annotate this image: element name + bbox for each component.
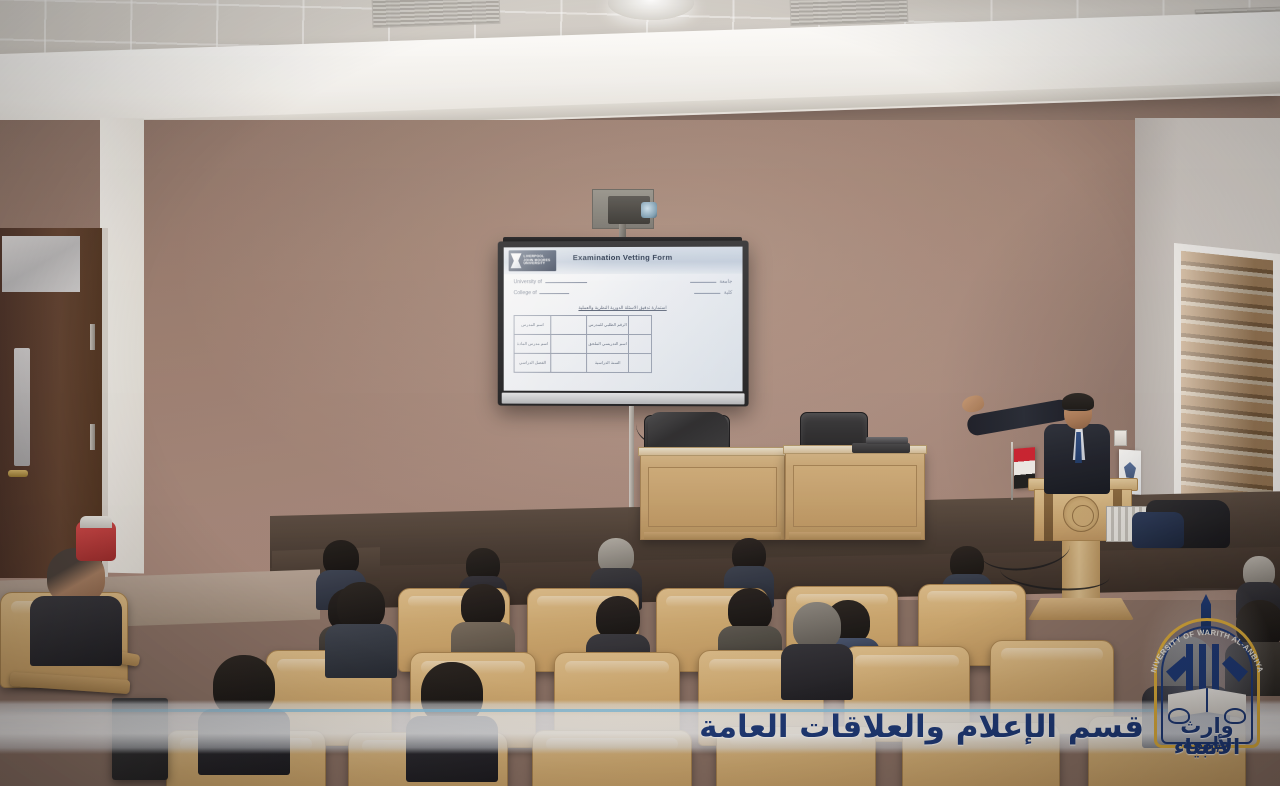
slide-table-row: اسم المدرس الرقم الطلبي للمدرس	[514, 315, 652, 334]
slide-cell	[551, 353, 587, 372]
slide-title: Examination Vetting Form	[504, 253, 743, 263]
audience-person	[786, 602, 848, 690]
logo-year: 2017	[1192, 743, 1226, 755]
flag-pole	[1011, 442, 1013, 500]
slide-cell: الرقم الطلبي للمدرس	[587, 315, 628, 334]
desk-front-panel	[648, 467, 777, 527]
projected-slide: LIVERPOOL JOHN MOORES UNIVERSITY Examina…	[504, 247, 743, 392]
stage-desk-left	[640, 452, 785, 540]
logo-arc-text: UNIVERSITY OF WARITH AL-ANBIYAA	[1143, 613, 1265, 674]
field-university-label-ar: جامعة	[719, 279, 732, 285]
door-vision-strip	[14, 348, 30, 466]
slide-cell	[628, 315, 652, 334]
person-head	[793, 602, 841, 650]
photo-scene: LIVERPOOL JOHN MOORES UNIVERSITY Examina…	[0, 0, 1280, 786]
door-glass-panel	[2, 236, 80, 292]
item-on-desk-2	[866, 437, 908, 444]
desk-front-panel	[793, 465, 917, 527]
person-body	[30, 596, 122, 666]
university-logo: UNIVERSITY OF WARITH AL-ANBIYAA وارث الأ…	[1146, 596, 1268, 764]
podium-base	[1028, 598, 1134, 620]
audience-person-profile	[38, 548, 114, 658]
whiteboard-stand-leg	[629, 406, 634, 514]
person-body	[781, 644, 853, 700]
media-department-banner: قسم الإعلام والعلاقات العامة	[0, 700, 1280, 754]
coat-on-chair	[648, 412, 728, 450]
slide-field-row-college: College of كلية	[514, 290, 733, 296]
field-rule-ar	[690, 281, 716, 282]
slide-cell: الفصل الدراسي	[514, 353, 551, 372]
interactive-whiteboard[interactable]: LIVERPOOL JOHN MOORES UNIVERSITY Examina…	[498, 241, 749, 407]
speaker-eyeglasses	[1063, 409, 1087, 414]
ac-vent-2	[790, 0, 909, 26]
logo-arc-text-wrap: UNIVERSITY OF WARITH AL-ANBIYAA	[1146, 620, 1268, 680]
slide-subheading: استمارة تدقيق الاسئلة الدورية النظرية وا…	[504, 305, 743, 311]
desk-base-rail	[789, 532, 921, 539]
field-university-ar: جامعة	[690, 279, 732, 285]
person-body	[325, 624, 397, 678]
slide-table-row: اسم مدرس المادة اسم التدريسي الملحق	[514, 334, 652, 353]
field-college-en: College of	[514, 290, 570, 296]
audience-person	[330, 582, 392, 668]
slide-cell	[628, 354, 652, 373]
logo-arc-svg: UNIVERSITY OF WARITH AL-ANBIYAA	[1146, 620, 1268, 680]
field-university-en: University of	[514, 279, 587, 285]
slide-cell	[551, 316, 587, 335]
desk-top-surface	[638, 447, 787, 456]
wall-outlet	[1114, 430, 1127, 446]
slide-cell: اسم المدرس	[514, 316, 551, 335]
navy-bag	[1132, 512, 1184, 548]
slide-field-row-university: University of جامعة	[514, 279, 733, 285]
whiteboard-pen-tray	[502, 393, 745, 405]
red-bag-on-floor	[76, 521, 116, 561]
slide-cell: اسم التدريسي الملحق	[587, 334, 628, 353]
field-college-ar: كلية	[695, 290, 733, 296]
field-university-label: University of	[514, 279, 542, 285]
person-head	[337, 582, 385, 630]
slide-cell: اسم مدرس المادة	[514, 334, 551, 353]
slide-field-block: University of جامعة College of كلية	[504, 279, 743, 301]
slide-cell: السنة الدراسية	[587, 353, 628, 372]
slide-cell	[551, 334, 587, 353]
stage-desk-right	[785, 450, 925, 540]
banner-accent-line	[0, 709, 1280, 712]
item-on-desk	[852, 443, 910, 453]
slide-cell	[628, 335, 652, 354]
podium-emblem	[1063, 496, 1099, 532]
slide-table: اسم المدرس الرقم الطلبي للمدرس اسم مدرس …	[514, 315, 653, 373]
field-rule	[545, 282, 587, 283]
field-college-label-ar: كلية	[724, 290, 733, 296]
ljmu-logo-line-3: UNIVERSITY	[523, 262, 550, 266]
door-hinge-bottom	[90, 424, 95, 450]
field-rule-ar-2	[695, 292, 721, 293]
door-hinge-top	[90, 324, 95, 350]
ac-vent-1	[372, 0, 501, 28]
field-rule-2	[540, 293, 570, 294]
slide-table-row: الفصل الدراسي السنة الدراسية	[514, 353, 652, 372]
projector-lens	[641, 202, 657, 218]
door-handle[interactable]	[8, 470, 28, 477]
banner-title: قسم الإعلام والعلاقات العامة	[699, 709, 1144, 745]
field-college-label: College of	[514, 290, 537, 296]
